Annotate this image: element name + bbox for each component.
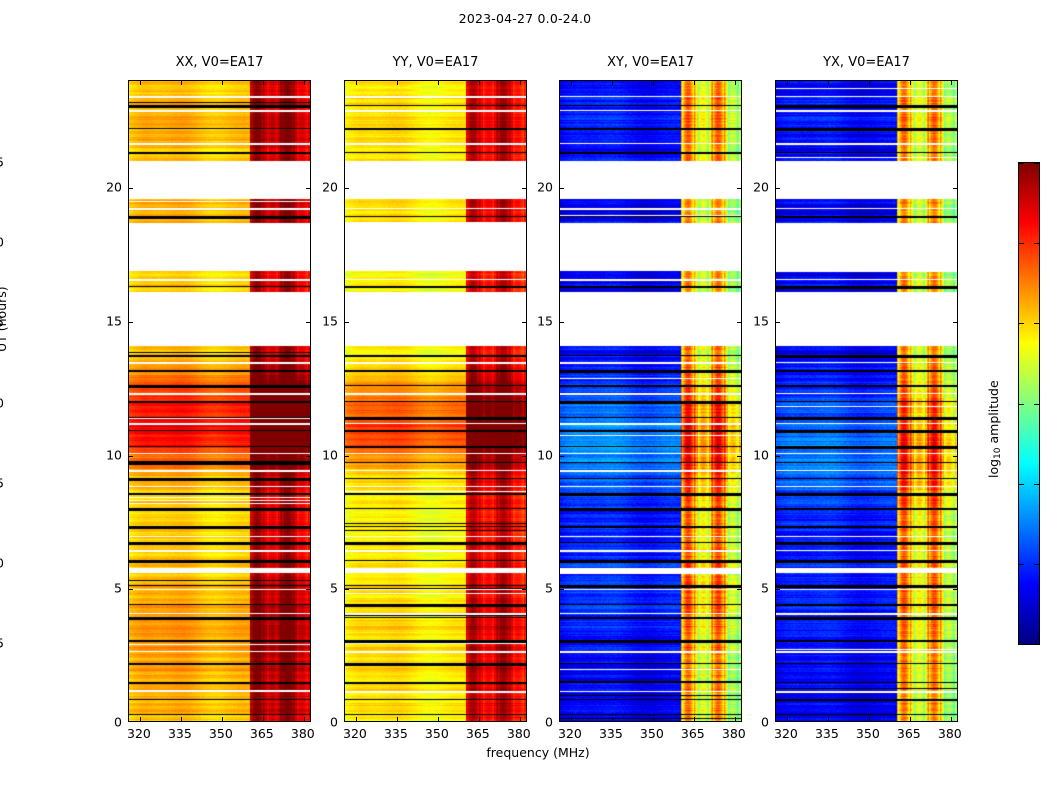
colorbar-tick--1.5 — [1019, 484, 1024, 485]
x-tick-335 — [612, 81, 613, 85]
x-tick-320 — [571, 717, 572, 721]
spectrogram-image-yy — [345, 81, 526, 721]
y-tick-5 — [737, 589, 741, 590]
x-tick-335 — [828, 81, 829, 85]
x-tick-label-335: 335 — [599, 726, 623, 741]
x-tick-label-320: 320 — [774, 726, 798, 741]
colorbar-tick--1 — [1034, 404, 1039, 405]
colorbar-tick-0.5 — [1034, 163, 1039, 164]
colorbar-tick--2.5 — [1034, 644, 1039, 645]
x-tick-label-350: 350 — [640, 726, 664, 741]
x-tick-350 — [869, 717, 870, 721]
y-tick-15 — [345, 322, 349, 323]
x-tick-350 — [438, 717, 439, 721]
colorbar-tick--2 — [1034, 564, 1039, 565]
y-tick-20 — [345, 188, 349, 189]
colorbar-tick-label--2.5: -2.5 — [0, 636, 4, 651]
y-tick-5 — [560, 589, 564, 590]
x-tick-350 — [222, 717, 223, 721]
colorbar-tick-label-0.5: 0.5 — [0, 155, 4, 170]
x-tick-365 — [263, 717, 264, 721]
y-tick-label-20: 20 — [527, 180, 553, 195]
x-tick-350 — [653, 717, 654, 721]
y-tick-10 — [129, 456, 133, 457]
y-tick-20 — [129, 188, 133, 189]
colorbar-tick-label--2: -2.0 — [0, 555, 4, 570]
colorbar-tick--0.5 — [1019, 323, 1024, 324]
y-tick-20 — [560, 188, 564, 189]
colorbar-tick-0 — [1034, 243, 1039, 244]
x-tick-365 — [910, 717, 911, 721]
colorbar-tick-label--0.5: -0.5 — [0, 315, 4, 330]
y-tick-5 — [129, 589, 133, 590]
colorbar-tick-label--1: -1.0 — [0, 395, 4, 410]
panel-yx[interactable]: YX, V0=EA17 — [775, 80, 958, 722]
y-tick-label-10: 10 — [527, 447, 553, 462]
x-tick-350 — [869, 81, 870, 85]
y-tick-15 — [953, 322, 957, 323]
figure-suptitle: 2023-04-27 0.0-24.0 — [0, 11, 1050, 26]
y-tick-label-0: 0 — [312, 715, 338, 730]
panel-title-xx: XX, V0=EA17 — [128, 55, 311, 70]
x-tick-380 — [304, 717, 305, 721]
y-tick-10 — [560, 456, 564, 457]
panel-yy[interactable]: YY, V0=EA17 — [344, 80, 527, 722]
x-tick-335 — [397, 81, 398, 85]
y-tick-5 — [953, 589, 957, 590]
y-tick-label-15: 15 — [527, 313, 553, 328]
colorbar-tick--1 — [1019, 404, 1024, 405]
y-tick-15 — [737, 322, 741, 323]
y-tick-label-20: 20 — [96, 180, 122, 195]
x-tick-335 — [828, 717, 829, 721]
y-tick-20 — [737, 188, 741, 189]
colorbar-tick--2.5 — [1019, 644, 1024, 645]
x-tick-label-350: 350 — [209, 726, 233, 741]
y-tick-label-5: 5 — [743, 581, 769, 596]
y-tick-10 — [306, 456, 310, 457]
x-tick-380 — [951, 81, 952, 85]
spectrogram-image-xx — [129, 81, 310, 721]
y-tick-label-10: 10 — [312, 447, 338, 462]
x-tick-380 — [520, 717, 521, 721]
x-tick-335 — [397, 717, 398, 721]
x-tick-label-365: 365 — [681, 726, 705, 741]
x-tick-label-365: 365 — [466, 726, 490, 741]
colorbar-label: log10 amplitude — [986, 380, 1003, 478]
y-tick-label-5: 5 — [312, 581, 338, 596]
y-tick-10 — [953, 456, 957, 457]
x-tick-label-365: 365 — [897, 726, 921, 741]
x-tick-320 — [140, 717, 141, 721]
y-tick-label-10: 10 — [743, 447, 769, 462]
x-tick-380 — [520, 81, 521, 85]
y-tick-label-20: 20 — [743, 180, 769, 195]
x-tick-label-335: 335 — [168, 726, 192, 741]
panel-title-yx: YX, V0=EA17 — [775, 55, 958, 70]
panel-xx-axes[interactable] — [128, 80, 311, 722]
y-tick-10 — [345, 456, 349, 457]
y-tick-20 — [776, 188, 780, 189]
y-tick-label-20: 20 — [312, 180, 338, 195]
x-tick-320 — [787, 717, 788, 721]
y-tick-5 — [776, 589, 780, 590]
x-tick-335 — [612, 717, 613, 721]
colorbar-tick-0 — [1019, 243, 1024, 244]
panel-title-xy: XY, V0=EA17 — [559, 55, 742, 70]
figure-canvas: 2023-04-27 0.0-24.0 XX, V0=EA17 YY, V0=E… — [0, 0, 1050, 800]
x-axis-label: frequency (MHz) — [128, 745, 948, 760]
y-tick-20 — [306, 188, 310, 189]
y-tick-label-5: 5 — [96, 581, 122, 596]
y-tick-5 — [522, 589, 526, 590]
y-tick-label-0: 0 — [743, 715, 769, 730]
y-tick-label-15: 15 — [96, 313, 122, 328]
x-tick-label-365: 365 — [250, 726, 274, 741]
colorbar-tick--2 — [1019, 564, 1024, 565]
panel-title-yy: YY, V0=EA17 — [344, 55, 527, 70]
x-tick-380 — [951, 717, 952, 721]
x-tick-350 — [438, 81, 439, 85]
panel-yx-axes[interactable] — [775, 80, 958, 722]
x-tick-350 — [222, 81, 223, 85]
y-tick-label-15: 15 — [743, 313, 769, 328]
colorbar-tick--1.5 — [1034, 484, 1039, 485]
x-tick-365 — [694, 717, 695, 721]
y-tick-10 — [522, 456, 526, 457]
y-tick-20 — [953, 188, 957, 189]
x-tick-320 — [140, 81, 141, 85]
x-tick-365 — [479, 717, 480, 721]
panel-xy[interactable]: XY, V0=EA17 — [559, 80, 742, 722]
x-tick-label-335: 335 — [384, 726, 408, 741]
spectrogram-image-xy — [560, 81, 741, 721]
y-tick-15 — [129, 322, 133, 323]
colorbar-tick--0.5 — [1034, 323, 1039, 324]
x-tick-380 — [304, 81, 305, 85]
x-tick-label-350: 350 — [425, 726, 449, 741]
panel-xx[interactable]: XX, V0=EA17 — [128, 80, 311, 722]
x-tick-label-320: 320 — [343, 726, 367, 741]
x-tick-320 — [356, 81, 357, 85]
x-tick-320 — [356, 717, 357, 721]
x-tick-365 — [479, 81, 480, 85]
y-tick-15 — [522, 322, 526, 323]
y-tick-5 — [306, 589, 310, 590]
y-tick-10 — [737, 456, 741, 457]
x-tick-label-335: 335 — [815, 726, 839, 741]
y-tick-15 — [306, 322, 310, 323]
y-tick-5 — [345, 589, 349, 590]
spectrogram-image-yx — [776, 81, 957, 721]
y-tick-20 — [522, 188, 526, 189]
y-tick-15 — [560, 322, 564, 323]
x-tick-350 — [653, 81, 654, 85]
colorbar[interactable] — [1018, 162, 1040, 645]
x-tick-365 — [263, 81, 264, 85]
y-tick-label-0: 0 — [96, 715, 122, 730]
panel-yy-axes[interactable] — [344, 80, 527, 722]
y-tick-label-10: 10 — [96, 447, 122, 462]
x-tick-380 — [735, 717, 736, 721]
x-tick-label-350: 350 — [856, 726, 880, 741]
x-tick-335 — [181, 717, 182, 721]
y-tick-label-0: 0 — [527, 715, 553, 730]
y-tick-label-15: 15 — [312, 313, 338, 328]
x-tick-label-380: 380 — [938, 726, 962, 741]
panel-xy-axes[interactable] — [559, 80, 742, 722]
y-tick-15 — [776, 322, 780, 323]
x-tick-380 — [735, 81, 736, 85]
x-tick-365 — [910, 81, 911, 85]
x-tick-320 — [787, 81, 788, 85]
x-tick-label-320: 320 — [127, 726, 151, 741]
y-tick-10 — [776, 456, 780, 457]
colorbar-tick-label-0: 0.0 — [0, 235, 4, 250]
colorbar-tick-label--1.5: -1.5 — [0, 475, 4, 490]
y-tick-label-5: 5 — [527, 581, 553, 596]
x-tick-365 — [694, 81, 695, 85]
x-tick-320 — [571, 81, 572, 85]
x-tick-label-320: 320 — [558, 726, 582, 741]
colorbar-tick-0.5 — [1019, 163, 1024, 164]
x-tick-335 — [181, 81, 182, 85]
